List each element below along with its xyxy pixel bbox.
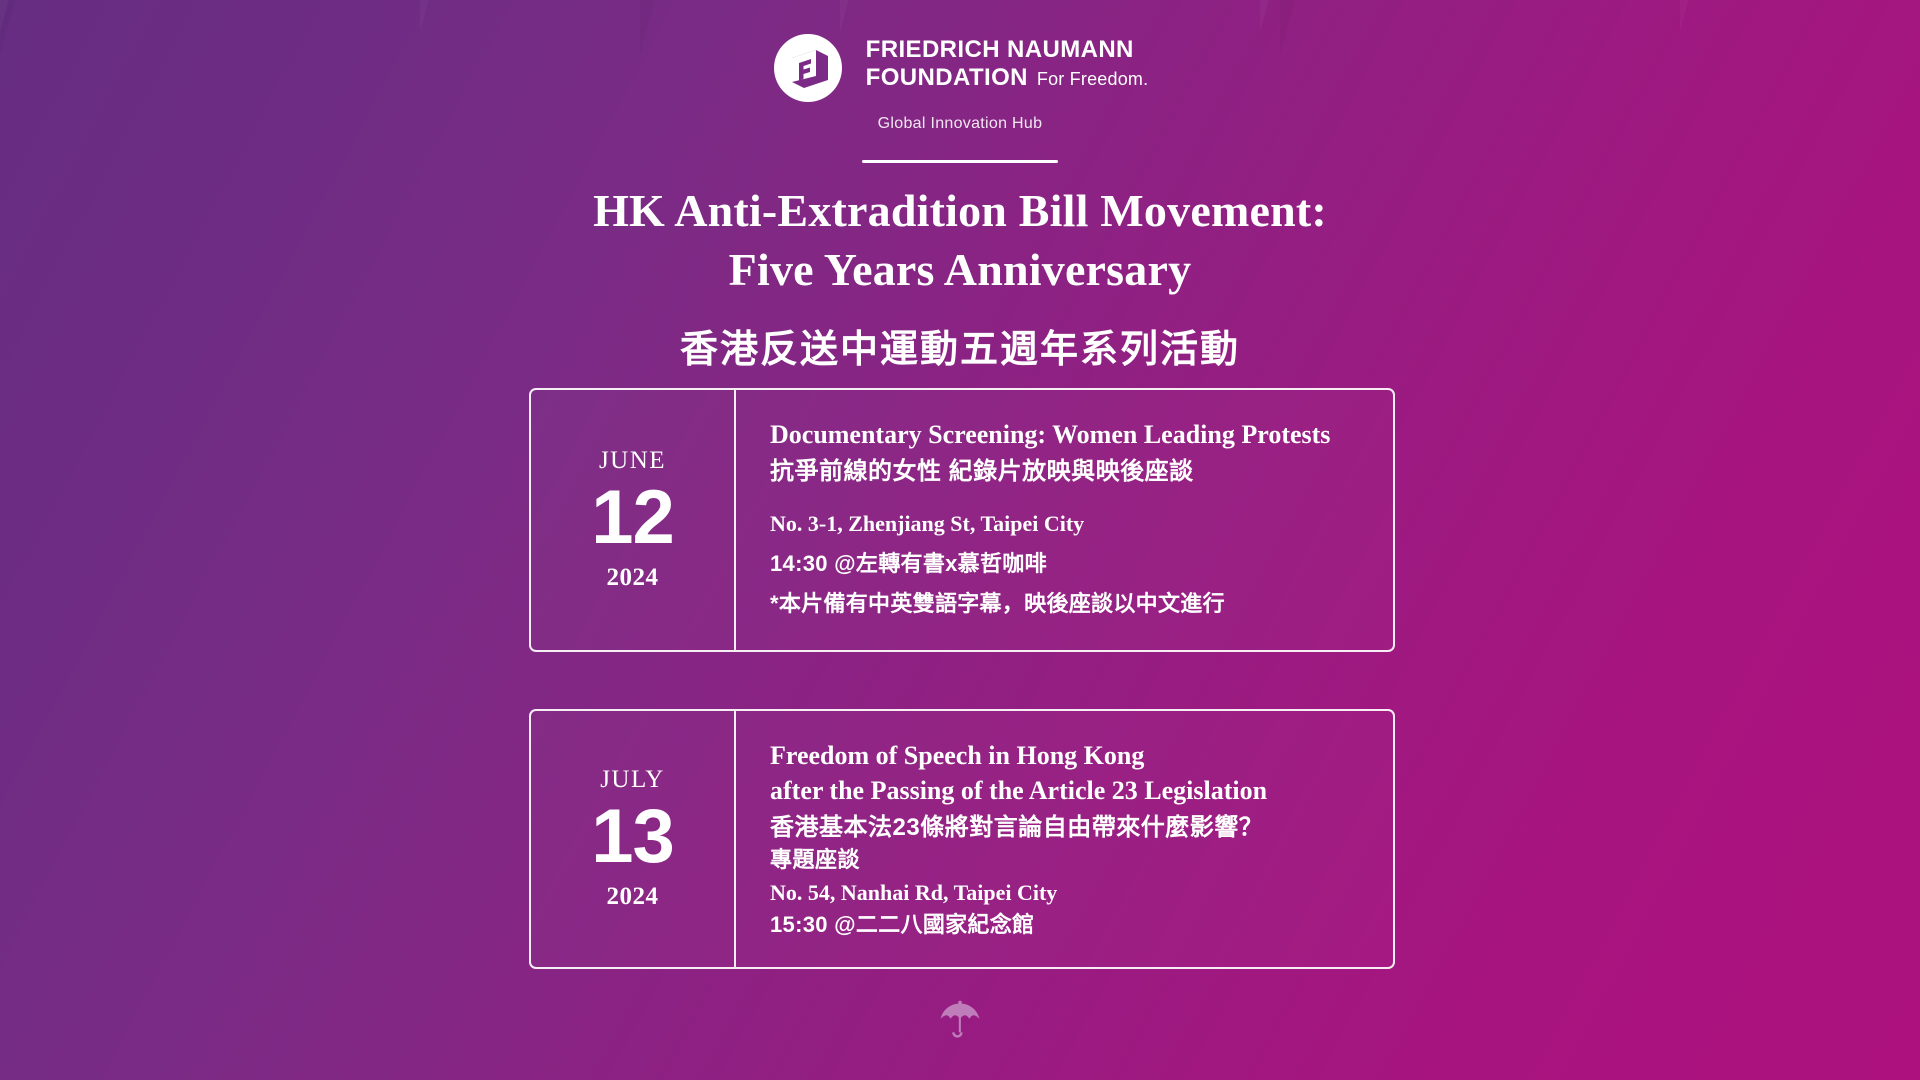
poster-page: FRIEDRICH NAUMANN FOUNDATION For Freedom…: [0, 0, 1920, 1080]
title-block: HK Anti-Extradition Bill Movement: Five …: [0, 182, 1920, 373]
event-year: 2024: [607, 883, 659, 911]
event-card[interactable]: JULY 13 2024 Freedom of Speech in Hong K…: [529, 709, 1395, 968]
event-note: *本片備有中英雙語字幕，映後座談以中文進行: [770, 584, 1367, 624]
fnf-f-cube-logo-icon: [772, 32, 844, 104]
event-title-chinese: 香港基本法23條將對言論自由帶來什麼影響？: [770, 812, 1367, 844]
event-title-english-line-2: after the Passing of the Article 23 Legi…: [770, 774, 1367, 808]
brand-line-2: FOUNDATION: [866, 64, 1028, 92]
event-date-block: JUNE 12 2024: [531, 390, 736, 650]
event-month: JULY: [600, 767, 665, 792]
event-title-chinese: 抗爭前線的女性 紀錄片放映與映後座談: [770, 456, 1367, 488]
event-time-venue: 14:30 @左轉有書x慕哲咖啡: [770, 544, 1367, 584]
event-title-english: Documentary Screening: Women Leading Pro…: [770, 418, 1367, 452]
event-body: Freedom of Speech in Hong Kong after the…: [736, 711, 1393, 966]
umbrella-icon: [933, 996, 987, 1050]
event-year: 2024: [607, 564, 659, 592]
brand-subtitle: Global Innovation Hub: [772, 115, 1149, 133]
page-title-chinese: 香港反送中運動五週年系列活動: [0, 318, 1920, 373]
event-title-english-line-1: Freedom of Speech in Hong Kong: [770, 739, 1367, 773]
event-time-venue: 15:30 @二二八國家紀念館: [770, 909, 1367, 941]
event-details: No. 3-1, Zhenjiang St, Taipei City 14:30…: [770, 504, 1367, 624]
event-day: 13: [591, 798, 674, 876]
event-month: JUNE: [599, 448, 666, 473]
brand-wordmark: FRIEDRICH NAUMANN FOUNDATION For Freedom…: [866, 32, 1149, 92]
event-day: 12: [591, 479, 674, 557]
event-location: No. 54, Nanhai Rd, Taipei City: [770, 877, 1367, 909]
brand-line-1: FRIEDRICH NAUMANN: [866, 36, 1134, 63]
event-details: No. 54, Nanhai Rd, Taipei City 15:30 @二二…: [770, 877, 1367, 941]
event-card-list: JUNE 12 2024 Documentary Screening: Wome…: [529, 388, 1395, 969]
brand-tagline: For Freedom.: [1037, 69, 1148, 90]
event-card[interactable]: JUNE 12 2024 Documentary Screening: Wome…: [529, 388, 1395, 652]
page-title-line-2: Five Years Anniversary: [0, 241, 1920, 300]
event-location: No. 3-1, Zhenjiang St, Taipei City: [770, 504, 1367, 544]
event-body: Documentary Screening: Women Leading Pro…: [736, 390, 1393, 650]
event-date-block: JULY 13 2024: [531, 711, 736, 966]
event-subtitle-chinese: 專題座談: [770, 846, 1367, 875]
header-divider: [862, 160, 1058, 163]
brand-header: FRIEDRICH NAUMANN FOUNDATION For Freedom…: [0, 32, 1920, 133]
page-title-line-1: HK Anti-Extradition Bill Movement:: [0, 182, 1920, 241]
